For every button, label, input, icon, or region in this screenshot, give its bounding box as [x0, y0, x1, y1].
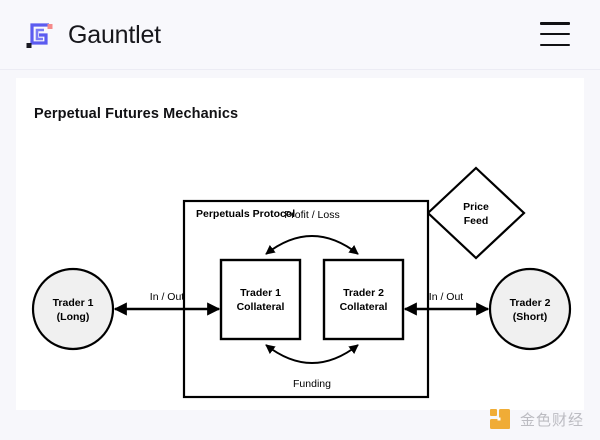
trader2-label-line1: Trader 2	[510, 297, 551, 309]
hamburger-bar-2	[540, 33, 570, 36]
watermark-text: 金色财经	[520, 409, 584, 430]
price-feed-label-line2: Feed	[464, 215, 489, 227]
perpetuals-protocol-label: Perpetuals Protocol	[196, 208, 295, 220]
trader2-collateral-box	[324, 260, 403, 339]
trader1-circle	[33, 269, 113, 349]
in-out-right-label: In / Out	[429, 291, 464, 303]
trader1-collateral-node: Trader 1 Collateral	[221, 260, 300, 339]
watermark: 金色财经	[487, 406, 584, 432]
trader2-collateral-node: Trader 2 Collateral	[324, 260, 403, 339]
trader1-node: Trader 1 (Long)	[33, 269, 113, 349]
price-feed-node: Price Feed	[428, 168, 524, 258]
trader1-collateral-line2: Collateral	[237, 301, 285, 313]
site-header: Gauntlet	[0, 0, 600, 70]
price-feed-diamond	[428, 168, 524, 258]
perpetual-futures-diagram: Price Feed Perpetuals Protocol Trader 1 …	[16, 78, 584, 410]
funding-label: Funding	[293, 378, 331, 390]
gauntlet-g-logo-icon	[22, 18, 56, 52]
trader1-label-line2: (Long)	[57, 311, 90, 323]
hamburger-bar-3	[540, 44, 570, 47]
jinse-finance-logo-icon	[487, 406, 513, 432]
hamburger-menu-icon[interactable]	[540, 22, 570, 46]
brand[interactable]: Gauntlet	[22, 18, 161, 52]
hamburger-bar-1	[540, 22, 570, 25]
trader2-collateral-line1: Trader 2	[343, 287, 384, 299]
trader2-node: Trader 2 (Short)	[490, 269, 570, 349]
profit-loss-label: Profit / Loss	[284, 209, 339, 221]
trader1-collateral-box	[221, 260, 300, 339]
trader2-circle	[490, 269, 570, 349]
price-feed-label-line1: Price	[463, 201, 489, 213]
trader1-collateral-line1: Trader 1	[240, 287, 281, 299]
trader2-label-line2: (Short)	[513, 311, 547, 323]
content-card: Perpetual Futures Mechanics Price Feed P…	[16, 78, 584, 410]
brand-name: Gauntlet	[68, 23, 161, 48]
in-out-left-label: In / Out	[150, 291, 185, 303]
trader2-collateral-line2: Collateral	[340, 301, 388, 313]
trader1-label-line1: Trader 1	[53, 297, 94, 309]
